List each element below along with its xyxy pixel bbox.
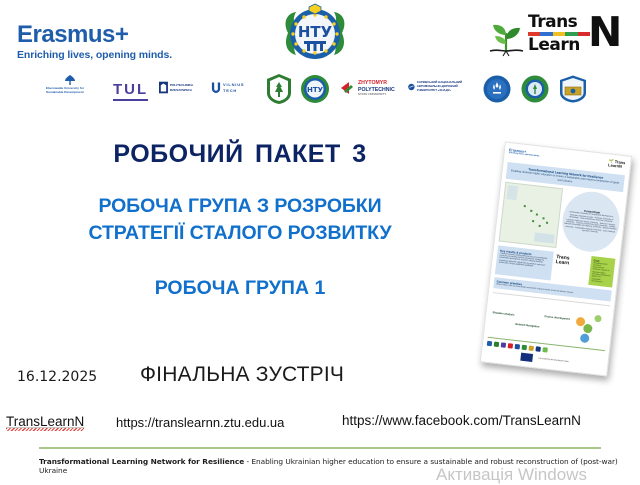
khadi-icon [408, 80, 415, 94]
translearn-logo: Trans Learn N [486, 13, 610, 61]
poster-eu-note: Co-funded by the European Union [538, 358, 568, 363]
poster-tl-n: N [619, 164, 622, 169]
translearn-learn-text: Learn [528, 36, 590, 55]
partner-caption: Eberswalde University for Sustainable De… [46, 87, 94, 95]
svg-text:НТУ: НТУ [298, 23, 333, 41]
poster-goal-box: Goal Strengthening the social and enviro… [588, 256, 615, 287]
vilnius-icon [211, 81, 221, 94]
rzeszow-icon [159, 81, 168, 94]
meeting-date: 16.12.2025 [17, 369, 97, 385]
project-facebook-link[interactable]: https://www.facebook.com/TransLearnN [342, 413, 581, 428]
zhytomyr-icon [340, 81, 356, 95]
poster-results-box: Key results & products Transformational … [495, 245, 554, 280]
poster-page: Erasmus+ Enriching lives, opening minds.… [480, 141, 632, 376]
partner-logo-vilnius: VILNIUS TECH [211, 81, 257, 94]
zhytomyr-caption-3: STATE UNIVERSITY [358, 93, 395, 97]
poster-tl-learn: Learn [608, 162, 619, 168]
translearn-trans-text: Trans [528, 13, 590, 32]
partner-caption: ХАРКІВСЬКИЙ НАЦІОНАЛЬНИЙ АВТОМОБІЛЬНО-ДО… [417, 81, 476, 93]
eu-flag-icon [520, 353, 533, 362]
sprout-icon [486, 17, 526, 57]
eberswalde-icon [62, 74, 78, 86]
project-poster-thumbnail[interactable]: Erasmus+ Enriching lives, opening minds.… [492, 148, 628, 384]
partner-logo-university-blue [483, 75, 511, 103]
work-package-title: РОБОЧИЙ ПАКЕТ 3 [0, 140, 480, 169]
poster-consortium-circle: Consortium Eberswalde University for Sus… [559, 189, 622, 255]
subtitle-line-1: РОБОЧА ГРУПА З РОЗРОБКИ [0, 193, 480, 220]
partner-logo-eberswalde: Eberswalde University for Sustainable De… [46, 74, 94, 95]
partner-logo-civil-engineering [559, 75, 587, 103]
poster-diagram-node-3: Course development [544, 315, 570, 321]
partner-logo-khadi: ХАРКІВСЬКИЙ НАЦІОНАЛЬНИЙ АВТОМОБІЛЬНО-ДО… [408, 80, 476, 94]
partner-logos-strip: Eberswalde University for Sustainable De… [0, 72, 640, 110]
partner-logo-zhytomyr: ZHYTOMYR POLYTECHNIC STATE UNIVERSITY [340, 80, 402, 97]
erasmus-tagline: Enriching lives, opening minds. [17, 49, 172, 61]
poster-europe-map [499, 182, 563, 248]
translearn-n-text: N [588, 12, 622, 53]
project-website-link[interactable]: https://translearnn.ztu.edu.ua [116, 415, 284, 430]
partner-logo-forestry [266, 74, 292, 104]
partner-logo-rzeszow: POLITECHNIKA RZESZOWSKA [159, 81, 211, 94]
poster-consortium-list: Eberswalde University for Sustainable De… [563, 211, 618, 237]
poster-middle-row: Consortium Eberswalde University for Sus… [499, 182, 623, 255]
partner-logo-ntu-small: НТУ [300, 74, 330, 104]
poster-tl-learn-2: Learn [555, 259, 569, 267]
partner-caption: VILNIUS TECH [223, 82, 257, 93]
partner-logo-tul: TUL [113, 81, 148, 99]
poster-translearn-logo: 🌱 Trans LearnN [608, 159, 626, 169]
tul-wordmark: TUL [113, 81, 148, 101]
poster-diagram-node-1: Situation analysis [492, 312, 514, 317]
poster-diagram-node-2: Network Navigation [515, 323, 539, 329]
poster-translearn-mark: Trans Learn [554, 252, 589, 284]
working-group-title: РОБОЧА ГРУПА 1 [0, 277, 480, 300]
partner-caption: POLITECHNIKA RZESZOWSKA [170, 83, 211, 91]
slide-header: Erasmus+ Enriching lives, opening minds.… [0, 0, 640, 68]
erasmus-wordmark: Erasmus+ [17, 22, 172, 47]
project-brand-name: TransLearnN [6, 414, 84, 429]
svg-text:НТУ: НТУ [307, 86, 324, 94]
main-title-block: РОБОЧИЙ ПАКЕТ 3 РОБОЧА ГРУПА З РОЗРОБКИ … [0, 140, 480, 300]
poster-goal-body: Strengthening the social and environment… [591, 262, 612, 285]
erasmus-plus-logo: Erasmus+ Enriching lives, opening minds. [17, 22, 172, 61]
ntu-emblem-icon: НТУ [276, 3, 354, 65]
meeting-title: ФІНАЛЬНА ЗУСТРІЧ [140, 363, 344, 387]
subtitle-line-2: СТРАТЕГІЇ СТАЛОГО РОЗВИТКУ [0, 220, 480, 247]
footer-divider [39, 447, 601, 449]
translearn-wordmark: Trans Learn [528, 13, 590, 55]
windows-activation-watermark: Активація Windows [436, 465, 587, 485]
footer-tagline-bold: Transformational Learning Network for Re… [39, 457, 244, 466]
partner-logo-agrarian [521, 75, 549, 103]
